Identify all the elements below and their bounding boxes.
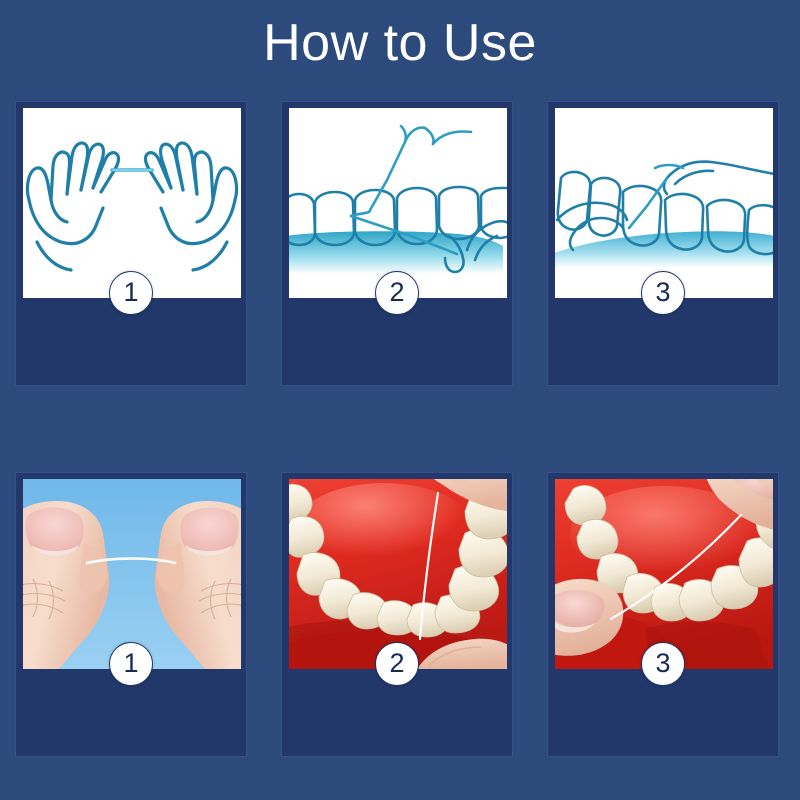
- step-badge: 1: [109, 642, 153, 686]
- step-card-3-photo: 3: [547, 472, 779, 757]
- step-card-3-illustration: 3: [547, 101, 779, 386]
- floss-between-teeth-illustration: [289, 108, 507, 298]
- step-card-2-photo: 2: [281, 472, 513, 757]
- step-card-2-illustration: 2: [281, 101, 513, 386]
- step-3-photo-media: [555, 479, 773, 669]
- fingertips-floss-photo: [23, 479, 241, 669]
- step-1-photo-media: [23, 479, 241, 669]
- step-card-1-illustration: 1: [15, 101, 247, 386]
- step-3-illustration-media: [555, 108, 773, 298]
- dental-model-diagonal-floss-photo: [555, 479, 773, 669]
- page-title: How to Use: [0, 8, 800, 78]
- step-card-1-photo: 1: [15, 472, 247, 757]
- step-badge: 2: [375, 271, 419, 315]
- step-1-illustration-media: [23, 108, 241, 298]
- step-badge: 3: [641, 271, 685, 315]
- step-badge: 3: [641, 642, 685, 686]
- step-badge: 1: [109, 271, 153, 315]
- hands-holding-floss-illustration: [23, 108, 241, 298]
- step-2-photo-media: [289, 479, 507, 669]
- dental-model-vertical-floss-photo: [289, 479, 507, 669]
- step-badge: 2: [375, 642, 419, 686]
- step-2-illustration-media: [289, 108, 507, 298]
- floss-along-tooth-illustration: [555, 108, 773, 298]
